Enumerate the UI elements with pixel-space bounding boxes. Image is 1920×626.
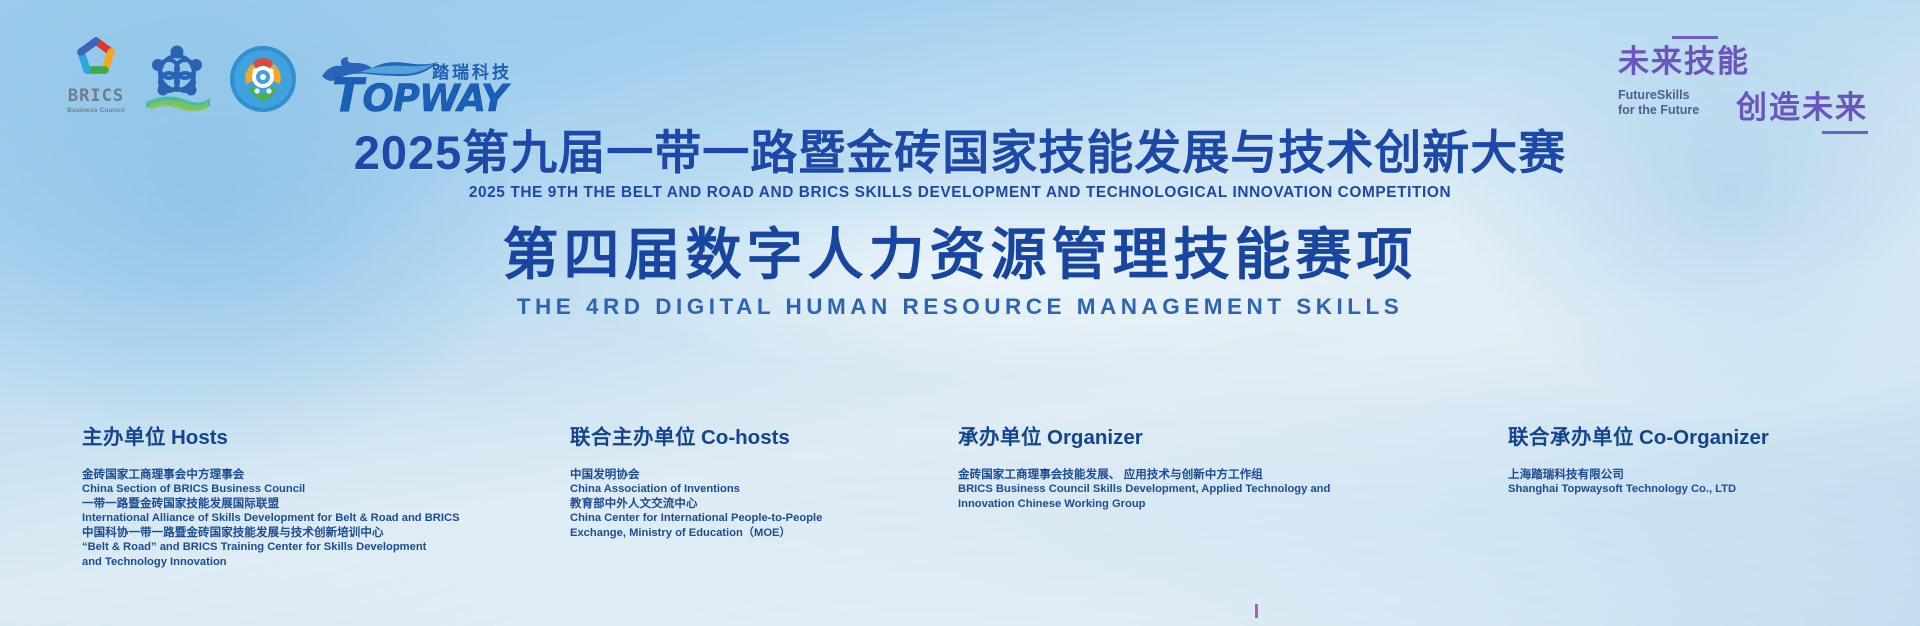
column-organizer-body: 金砖国家工商理事会技能发展、 应用技术与创新中方工作组 BRICS Busine…	[958, 468, 1418, 511]
event-subtitle-en: THE 4RD DIGITAL HUMAN RESOURCE MANAGEMEN…	[0, 294, 1920, 320]
topway-wordmark: TOPWAY	[332, 72, 507, 118]
list-item: Innovation Chinese Working Group	[958, 497, 1418, 511]
slogan-rule-top	[1672, 36, 1718, 39]
poster-canvas: BRICS Business Council	[0, 0, 1920, 626]
list-item: China Section of BRICS Business Council	[82, 482, 522, 496]
column-organizer-heading-en: Organizer	[1047, 426, 1143, 449]
competition-title-cn: 2025第九届一带一路暨金砖国家技能发展与技术创新大赛	[0, 128, 1920, 179]
skills-training-center-logo	[228, 44, 298, 114]
slogan-cn-bottom: 创造未来	[1736, 92, 1868, 123]
column-hosts: 主办单位Hosts 金砖国家工商理事会中方理事会 China Section o…	[82, 428, 522, 569]
list-item: Exchange, Ministry of Education（MOE）	[570, 526, 950, 540]
list-item: China Association of Inventions	[570, 482, 950, 496]
brics-business-council-logo: BRICS Business Council	[62, 34, 130, 114]
list-item: 中国科协一带一路暨金砖国家技能发展与技术创新培训中心	[82, 526, 522, 541]
list-item: Shanghai Topwaysoft Technology Co., LTD	[1508, 482, 1908, 496]
competition-title-en: 2025 THE 9TH THE BELT AND ROAD AND BRICS…	[0, 184, 1920, 202]
list-item: 上海踏瑞科技有限公司	[1508, 468, 1908, 483]
list-item: 金砖国家工商理事会技能发展、 应用技术与创新中方工作组	[958, 468, 1418, 483]
column-cohosts-body: 中国发明协会 China Association of Inventions 教…	[570, 468, 950, 540]
list-item: and Technology Innovation	[82, 555, 522, 569]
column-hosts-heading-cn: 主办单位	[82, 426, 166, 449]
future-skills-slogan: 未来技能 FutureSkills for the Future 创造未来	[1618, 32, 1868, 136]
column-co-organizer: 联合承办单位Co-Organizer 上海踏瑞科技有限公司 Shanghai T…	[1508, 428, 1908, 497]
topway-wordmark-rest: OPWAY	[362, 77, 506, 120]
list-item: BRICS Business Council Skills Developmen…	[958, 482, 1418, 496]
column-organizer: 承办单位Organizer 金砖国家工商理事会技能发展、 应用技术与创新中方工作…	[958, 428, 1418, 511]
column-cohosts-heading-cn: 联合主办单位	[570, 426, 696, 449]
list-item: 金砖国家工商理事会中方理事会	[82, 468, 522, 483]
list-item: “Belt & Road” and BRICS Training Center …	[82, 540, 522, 554]
training-center-emblem-svg	[228, 44, 298, 114]
alliance-emblem-svg	[138, 40, 216, 114]
column-hosts-heading: 主办单位Hosts	[82, 428, 522, 449]
column-hosts-heading-en: Hosts	[171, 426, 228, 449]
column-co-organizer-heading-en: Co-Organizer	[1639, 426, 1769, 449]
logo-row: BRICS Business Council	[62, 34, 514, 114]
topway-wordmark-cap: T	[332, 68, 362, 122]
bottom-center-mark	[1255, 604, 1258, 618]
list-item: 教育部中外人文交流中心	[570, 497, 950, 512]
column-organizer-heading-cn: 承办单位	[958, 426, 1042, 449]
list-item: International Alliance of Skills Develop…	[82, 511, 522, 525]
column-organizer-heading: 承办单位Organizer	[958, 428, 1418, 449]
international-alliance-logo	[138, 40, 216, 114]
column-co-organizer-heading: 联合承办单位Co-Organizer	[1508, 428, 1908, 449]
event-subtitle-cn: 第四届数字人力资源管理技能赛项	[0, 224, 1920, 287]
title-block: 2025第九届一带一路暨金砖国家技能发展与技术创新大赛 2025 THE 9TH…	[0, 128, 1920, 320]
list-item: China Center for International People-to…	[570, 511, 950, 525]
column-co-organizer-heading-cn: 联合承办单位	[1508, 426, 1634, 449]
brics-star-svg	[70, 34, 122, 84]
topway-logo: 踏瑞科技 TOPWAY	[318, 52, 514, 114]
column-co-organizer-body: 上海踏瑞科技有限公司 Shanghai Topwaysoft Technolog…	[1508, 468, 1908, 497]
brics-wordmark: BRICS	[62, 88, 130, 105]
slogan-en: FutureSkills for the Future	[1618, 88, 1699, 119]
column-cohosts: 联合主办单位Co-hosts 中国发明协会 China Association …	[570, 428, 950, 540]
brics-star-icon	[70, 34, 122, 84]
list-item: 中国发明协会	[570, 468, 950, 483]
column-hosts-body: 金砖国家工商理事会中方理事会 China Section of BRICS Bu…	[82, 468, 522, 569]
slogan-en-line2: for the Future	[1618, 103, 1699, 118]
brics-subtext: Business Council	[62, 107, 130, 114]
organizer-columns: 主办单位Hosts 金砖国家工商理事会中方理事会 China Section o…	[0, 428, 1920, 618]
slogan-en-line1: FutureSkills	[1618, 88, 1699, 103]
column-cohosts-heading: 联合主办单位Co-hosts	[570, 428, 950, 449]
column-cohosts-heading-en: Co-hosts	[701, 426, 790, 449]
list-item: 一带一路暨金砖国家技能发展国际联盟	[82, 497, 522, 512]
slogan-cn-top: 未来技能	[1618, 46, 1750, 77]
